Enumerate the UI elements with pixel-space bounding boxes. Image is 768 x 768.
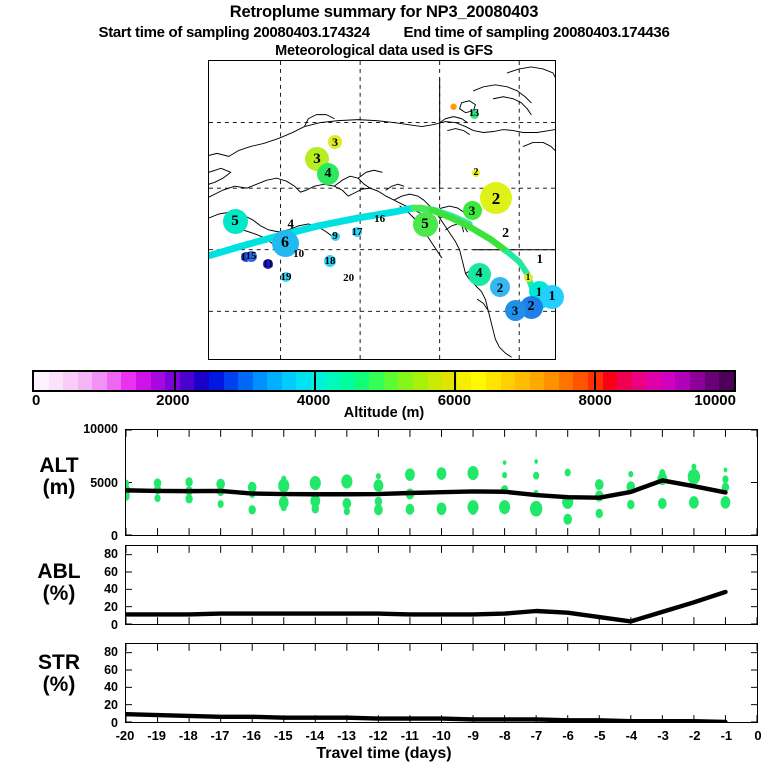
colorbar-segment bbox=[515, 372, 530, 390]
colorbar-tick: 8000 bbox=[579, 392, 612, 409]
x-tick-label: -12 bbox=[369, 728, 388, 743]
x-tick-label: -20 bbox=[116, 728, 135, 743]
abl-mean-line bbox=[126, 592, 725, 621]
map-marker: 9 bbox=[331, 232, 340, 241]
colorbar-segment bbox=[63, 372, 78, 390]
colorbar-segment bbox=[398, 372, 413, 390]
map-marker: 5 bbox=[413, 212, 438, 237]
sampling-times: Start time of sampling 20080403.174324 E… bbox=[0, 24, 768, 41]
alt-plot-graphics bbox=[126, 430, 757, 535]
alt-axis-name: ALT bbox=[6, 455, 112, 477]
map-marker-label: 10 bbox=[293, 249, 304, 260]
x-tick-label: -8 bbox=[499, 728, 511, 743]
colorbar-segment bbox=[107, 372, 122, 390]
colorbar-segment bbox=[530, 372, 545, 390]
alt-mean-line bbox=[126, 480, 725, 497]
str-mean-line bbox=[126, 714, 725, 722]
colorbar-tick: 4000 bbox=[297, 392, 330, 409]
colorbar-segment bbox=[632, 372, 647, 390]
map-marker: 2 bbox=[480, 182, 512, 214]
str-y-tick-label: 0 bbox=[60, 716, 118, 730]
colorbar-segment bbox=[121, 372, 136, 390]
map-marker-label: 1 bbox=[536, 252, 543, 265]
colorbar-gradient bbox=[32, 370, 736, 392]
map-marker: 1 bbox=[540, 285, 564, 309]
map-marker: 4 bbox=[468, 263, 491, 286]
colorbar-segment bbox=[355, 372, 370, 390]
map-marker-label: 4 bbox=[287, 217, 294, 230]
colorbar-segment bbox=[180, 372, 195, 390]
colorbar-segment bbox=[457, 372, 472, 390]
colorbar-divider bbox=[454, 372, 456, 390]
colorbar-segment bbox=[326, 372, 341, 390]
colorbar-segment bbox=[471, 372, 486, 390]
colorbar-tick: 2000 bbox=[156, 392, 189, 409]
colorbar-segment bbox=[603, 372, 618, 390]
x-tick-label: -10 bbox=[432, 728, 451, 743]
abl-y-tick-label: 20 bbox=[60, 600, 118, 614]
colorbar-segment bbox=[92, 372, 107, 390]
x-tick-label: -4 bbox=[626, 728, 638, 743]
map-marker-label: 20 bbox=[343, 273, 354, 284]
x-tick-label: -11 bbox=[401, 728, 419, 743]
map-marker: 17 bbox=[352, 227, 362, 237]
colorbar-segment bbox=[224, 372, 239, 390]
x-tick-label: -19 bbox=[147, 728, 166, 743]
alt-panel bbox=[125, 429, 758, 536]
end-time-label: End time of sampling 20080403.174436 bbox=[403, 24, 669, 41]
colorbar-segment bbox=[661, 372, 676, 390]
colorbar-segment bbox=[253, 372, 268, 390]
x-tick-label: -2 bbox=[689, 728, 701, 743]
colorbar-segment bbox=[369, 372, 384, 390]
colorbar-tick-labels: 0200040006000800010000 bbox=[32, 392, 736, 404]
x-tick-label: -15 bbox=[274, 728, 293, 743]
abl-plot-graphics bbox=[126, 546, 757, 624]
colorbar-segment bbox=[267, 372, 282, 390]
colorbar-segment bbox=[617, 372, 632, 390]
colorbar-segment bbox=[573, 372, 588, 390]
colorbar-segment bbox=[384, 372, 399, 390]
colorbar-segment bbox=[151, 372, 166, 390]
colorbar-divider bbox=[314, 372, 316, 390]
x-tick-label: -13 bbox=[337, 728, 356, 743]
colorbar-segment bbox=[690, 372, 705, 390]
map-marker: 4 bbox=[317, 163, 339, 185]
colorbar-segment bbox=[78, 372, 93, 390]
colorbar-segment bbox=[544, 372, 559, 390]
map-marker: 3 bbox=[328, 135, 342, 149]
colorbar-segment bbox=[165, 372, 180, 390]
x-tick-label: -1 bbox=[721, 728, 733, 743]
colorbar-segment bbox=[559, 372, 574, 390]
x-axis-title: Travel time (days) bbox=[0, 745, 768, 763]
colorbar-segment bbox=[136, 372, 151, 390]
abl-y-tick-label: 40 bbox=[60, 582, 118, 596]
x-tick-label: -7 bbox=[531, 728, 543, 743]
alt-y-tick-label: 5000 bbox=[60, 476, 118, 490]
x-tick-label: -14 bbox=[305, 728, 324, 743]
map-marker: 3 bbox=[505, 300, 526, 321]
x-tick-label: -17 bbox=[211, 728, 230, 743]
colorbar-segment bbox=[413, 372, 428, 390]
start-time-label: Start time of sampling 20080403.174324 bbox=[98, 24, 369, 41]
met-data-label: Meteorological data used is GFS bbox=[0, 43, 768, 59]
map-marker: 3 bbox=[463, 201, 482, 220]
alt-y-tick-label: 10000 bbox=[60, 422, 118, 436]
map-marker: 15 bbox=[246, 251, 257, 262]
colorbar-divider bbox=[594, 372, 596, 390]
x-tick-label: -5 bbox=[594, 728, 606, 743]
colorbar-segment bbox=[705, 372, 720, 390]
x-tick-label: -9 bbox=[467, 728, 479, 743]
map-marker: 5 bbox=[223, 209, 248, 234]
map-marker: 13 bbox=[470, 110, 479, 119]
map-marker: 1 bbox=[524, 273, 533, 282]
str-y-tick-label: 40 bbox=[60, 680, 118, 694]
colorbar-tick: 0 bbox=[32, 392, 40, 409]
map-marker: 2 bbox=[472, 169, 480, 177]
abl-panel bbox=[125, 545, 758, 625]
map-marker-label: 2 bbox=[502, 227, 509, 241]
str-plot-graphics bbox=[126, 644, 757, 722]
colorbar-segment bbox=[209, 372, 224, 390]
colorbar-title: Altitude (m) bbox=[32, 405, 736, 421]
x-tick-label: 0 bbox=[754, 728, 761, 743]
page-title: Retroplume summary for NP3_20080403 bbox=[0, 3, 768, 22]
map-marker: 2 bbox=[490, 277, 510, 297]
title-block: Retroplume summary for NP3_20080403 Star… bbox=[0, 0, 768, 59]
colorbar-segment bbox=[646, 372, 661, 390]
colorbar-divider bbox=[174, 372, 176, 390]
altitude-colorbar: 0200040006000800010000 Altitude (m) bbox=[32, 370, 736, 421]
x-tick-label: -3 bbox=[657, 728, 669, 743]
colorbar-tick: 10000 bbox=[694, 392, 736, 409]
colorbar-segment bbox=[719, 372, 734, 390]
map-marker: 11 bbox=[263, 259, 273, 269]
x-tick-label: -6 bbox=[562, 728, 574, 743]
colorbar-segment bbox=[282, 372, 297, 390]
str-panel bbox=[125, 643, 758, 723]
abl-y-tick-label: 80 bbox=[60, 547, 118, 561]
map-orange-point bbox=[450, 104, 456, 110]
retroplume-map: 1123241123252334546910111314151617181920 bbox=[208, 60, 556, 360]
colorbar-segment bbox=[238, 372, 253, 390]
str-y-tick-label: 20 bbox=[60, 698, 118, 712]
abl-y-tick-label: 0 bbox=[60, 618, 118, 632]
map-marker: 19 bbox=[281, 272, 291, 282]
colorbar-segment bbox=[428, 372, 443, 390]
colorbar-segment bbox=[296, 372, 311, 390]
map-marker: 18 bbox=[324, 255, 336, 267]
abl-y-tick-label: 60 bbox=[60, 565, 118, 579]
colorbar-tick: 6000 bbox=[438, 392, 471, 409]
map-marker-label: 16 bbox=[374, 214, 385, 225]
x-tick-label: -16 bbox=[242, 728, 261, 743]
colorbar-segment bbox=[675, 372, 690, 390]
colorbar-segment bbox=[194, 372, 209, 390]
x-tick-label: -18 bbox=[179, 728, 198, 743]
alt-y-tick-label: 0 bbox=[60, 529, 118, 543]
colorbar-segment bbox=[34, 372, 49, 390]
colorbar-segment bbox=[340, 372, 355, 390]
str-y-tick-label: 80 bbox=[60, 645, 118, 659]
colorbar-segment bbox=[49, 372, 64, 390]
colorbar-segment bbox=[501, 372, 516, 390]
str-y-tick-label: 60 bbox=[60, 663, 118, 677]
colorbar-segment bbox=[486, 372, 501, 390]
